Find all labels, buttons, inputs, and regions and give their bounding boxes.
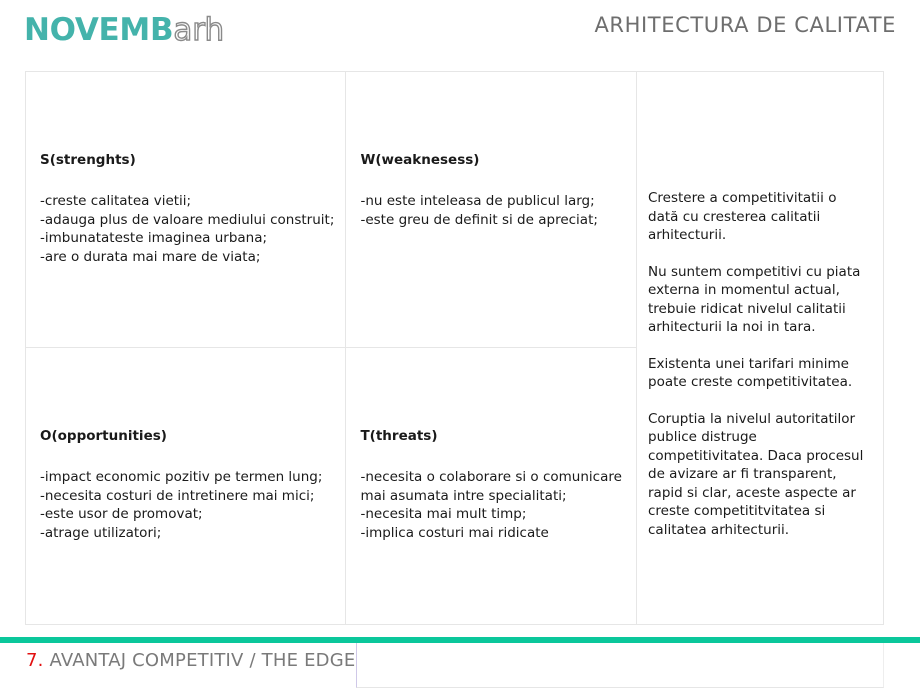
brand-logo-secondary: arh [173,12,224,48]
swot-quadrant-strengths: S(strenghts) -creste calitatea vietii; -… [26,72,346,347]
list-item: -este usor de promovat; [40,505,335,524]
note-paragraph: Nu suntem competitivi cu piata externa i… [648,263,871,337]
swot-quadrant-weaknesses: W(weaknesess) -nu este inteleasa de publ… [346,72,636,347]
list-item: -nu este inteleasa de publicul larg; [360,192,626,211]
footer-section-number: 7. [26,650,44,671]
threats-list: -necesita o colaborare si o comunicare m… [360,468,626,542]
brand-logo: NOVEMBarh [24,10,224,50]
footer-section-label: 7. AVANTAJ COMPETITIV / THE EDGE [26,648,355,674]
swot-quadrant-threats: T(threats) -necesita o colaborare si o c… [346,348,636,624]
note-paragraph: Crestere a competitivitatii o dată cu cr… [648,189,871,245]
swot-quadrants: S(strenghts) -creste calitatea vietii; -… [26,72,637,624]
footer-empty-box [356,643,884,688]
list-item: -creste calitatea vietii; [40,192,335,211]
list-item: -imbunatateste imaginea urbana; [40,229,335,248]
list-item: -atrage utilizatori; [40,524,335,543]
swot-matrix: S(strenghts) -creste calitatea vietii; -… [25,71,884,625]
strengths-title: S(strenghts) [40,152,335,168]
page-title: ARHITECTURA DE CALITATE [594,13,896,37]
competitiveness-notes-column: Crestere a competitivitatii o dată cu cr… [637,72,883,624]
list-item: -este greu de definit si de apreciat; [360,211,626,230]
note-paragraph: Coruptia la nivelul autoritatilor public… [648,410,871,540]
strengths-list: -creste calitatea vietii; -adauga plus d… [40,192,335,266]
swot-quadrant-opportunities: O(opportunities) -impact economic poziti… [26,348,346,624]
page-header: NOVEMBarh ARHITECTURA DE CALITATE [0,0,920,62]
brand-logo-primary: NOVEMB [24,12,173,48]
swot-row-bottom: O(opportunities) -impact economic poziti… [26,348,636,624]
list-item: -adauga plus de valoare mediului constru… [40,211,335,230]
weaknesses-title: W(weaknesess) [360,152,626,168]
list-item: -impact economic pozitiv pe termen lung; [40,468,335,487]
swot-row-top: S(strenghts) -creste calitatea vietii; -… [26,72,636,348]
list-item: -implica costuri mai ridicate [360,524,626,543]
footer-section-text: AVANTAJ COMPETITIV / THE EDGE [50,650,356,671]
threats-title: T(threats) [360,428,626,444]
opportunities-title: O(opportunities) [40,428,335,444]
list-item: -are o durata mai mare de viata; [40,248,335,267]
note-paragraph: Existenta unei tarifari minime poate cre… [648,355,871,392]
opportunities-list: -impact economic pozitiv pe termen lung;… [40,468,335,542]
list-item: -necesita mai mult timp; [360,505,626,524]
weaknesses-list: -nu este inteleasa de publicul larg; -es… [360,192,626,229]
list-item: -necesita costuri de intretinere mai mic… [40,487,335,506]
list-item: -necesita o colaborare si o comunicare m… [360,468,626,505]
